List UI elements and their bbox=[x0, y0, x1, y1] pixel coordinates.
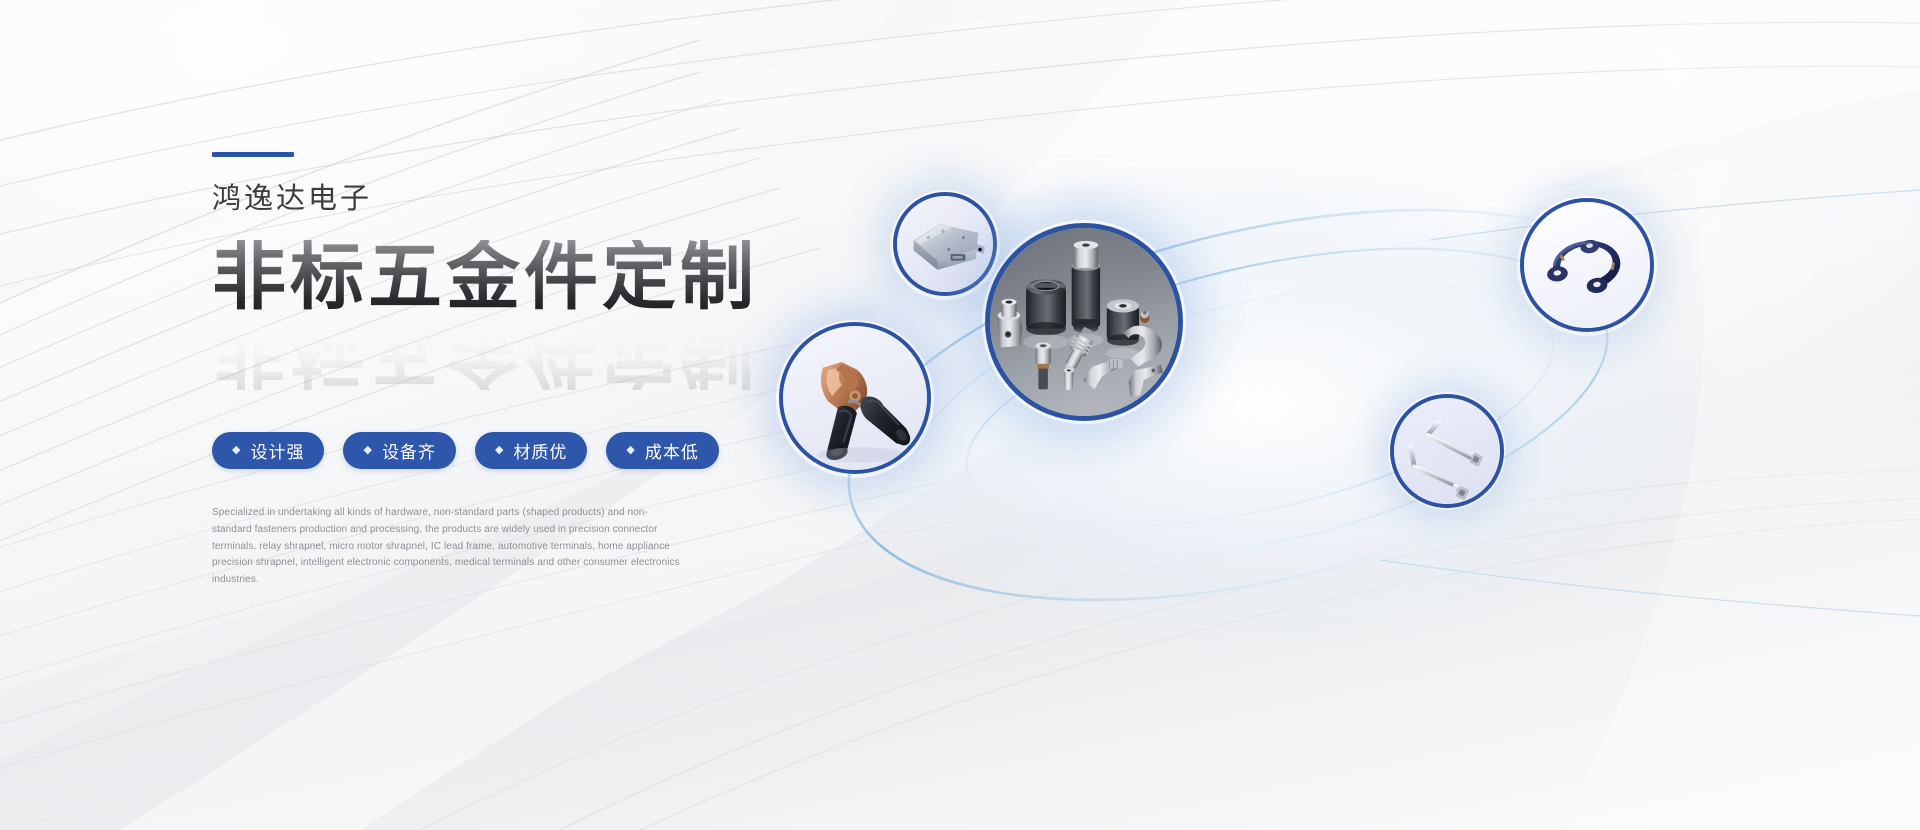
stamped-metal-enclosure-image bbox=[897, 196, 993, 292]
blue-retaining-ring-image bbox=[1524, 202, 1650, 328]
bent-metal-terminal-pins-image bbox=[1394, 398, 1500, 504]
diamond-icon: ◆ bbox=[363, 445, 372, 456]
hero-banner: 鸿逸达电子 非标五金件定制 非标五金件定制 ◆ 设计强 ◆ 设备齐 ◆ 材质优 … bbox=[0, 0, 1920, 830]
product-node-battery-clamp[interactable] bbox=[779, 322, 931, 474]
product-node-retaining-ring[interactable] bbox=[1520, 198, 1654, 332]
feature-badge-label: 成本低 bbox=[645, 438, 699, 463]
headline-reflection: 非标五金件定制 bbox=[212, 316, 758, 390]
feature-badge-design[interactable]: ◆ 设计强 bbox=[212, 432, 324, 469]
feature-badge-label: 设备齐 bbox=[382, 438, 436, 463]
diamond-icon: ◆ bbox=[495, 445, 504, 456]
company-description: Specialized in undertaking all kinds of … bbox=[212, 505, 682, 589]
feature-badge-material[interactable]: ◆ 材质优 bbox=[475, 432, 587, 469]
accent-rule bbox=[212, 152, 294, 157]
precision-machined-parts-image bbox=[990, 228, 1178, 416]
diamond-icon: ◆ bbox=[626, 445, 635, 456]
product-node-metal-enclosure[interactable] bbox=[893, 192, 997, 296]
feature-badge-label: 设计强 bbox=[250, 438, 304, 463]
copper-battery-clamp-image bbox=[783, 326, 927, 470]
feature-badge-equipment[interactable]: ◆ 设备齐 bbox=[343, 432, 455, 469]
diamond-icon: ◆ bbox=[232, 445, 241, 456]
product-node-precision-parts[interactable] bbox=[985, 223, 1183, 421]
product-node-bent-terminals[interactable] bbox=[1390, 394, 1504, 508]
feature-badge-cost[interactable]: ◆ 成本低 bbox=[606, 432, 718, 469]
feature-badge-label: 材质优 bbox=[513, 438, 567, 463]
product-showcase bbox=[740, 130, 1920, 650]
